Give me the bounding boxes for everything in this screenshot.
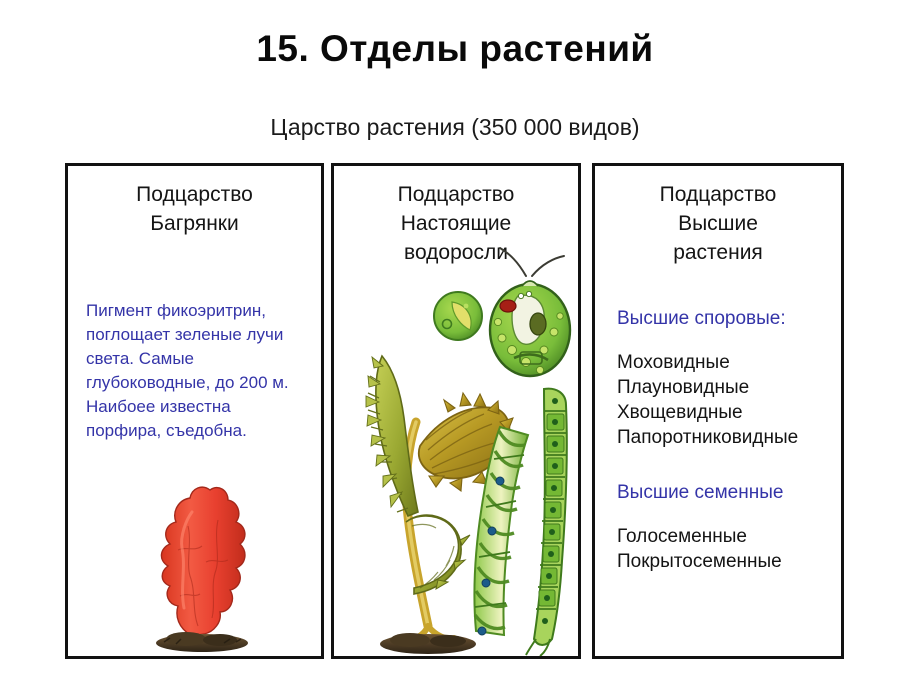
page-subtitle: Царство растения (350 000 видов) xyxy=(0,114,910,141)
spore-plants-list: Моховидные Плауновидные Хвощевидные Папо… xyxy=(617,350,837,450)
higher-plants-content: Высшие споровые: Моховидные Плауновидные… xyxy=(617,306,837,574)
seed-plants-title: Высшие семенные xyxy=(617,480,837,506)
seed-plants-list: Голосеменные Покрытосеменные xyxy=(617,524,837,574)
page-title: 15. Отделы растений xyxy=(0,28,910,70)
red-algae-illustration xyxy=(120,476,270,659)
column-red-algae: Подцарство Багрянки Пигмент фикоэритрин,… xyxy=(65,163,324,659)
filamentous-algae-illustration xyxy=(470,381,581,659)
column-heading-higher-plants: Подцарство Высшие растения xyxy=(595,180,841,267)
red-algae-description: Пигмент фикоэритрин, поглощает зеленые л… xyxy=(86,299,310,443)
column-higher-plants: Подцарство Высшие растения Высшие споров… xyxy=(592,163,844,659)
column-heading-red-algae: Подцарство Багрянки xyxy=(68,180,321,238)
column-true-algae: Подцарство Настоящие водоросли xyxy=(331,163,581,659)
spore-plants-title: Высшие споровые: xyxy=(617,306,837,332)
